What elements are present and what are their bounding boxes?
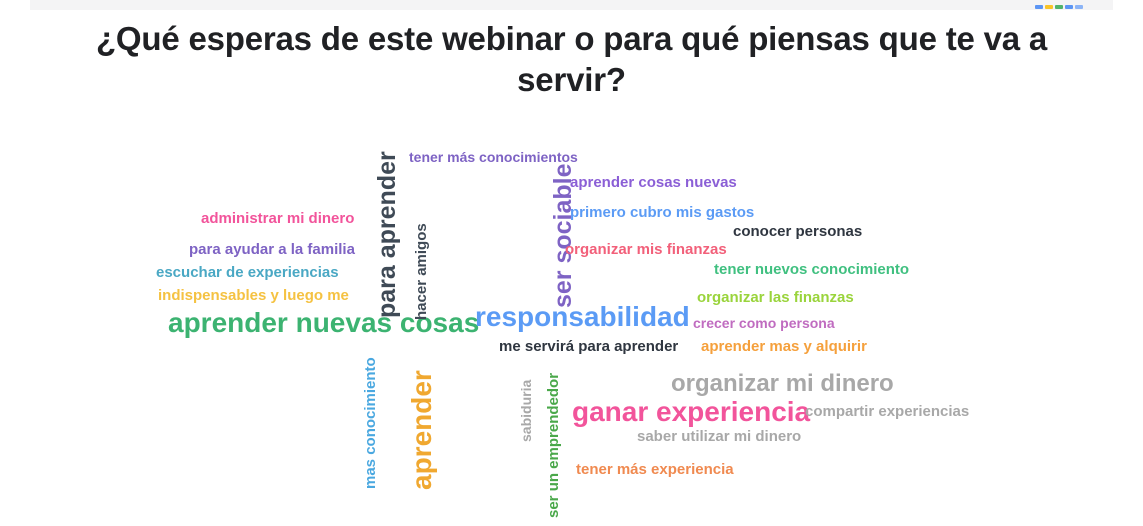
cloud-word: escuchar de experiencias bbox=[156, 265, 339, 280]
cloud-word: ganar experiencia bbox=[572, 398, 810, 426]
cloud-word: mas conocimiento bbox=[363, 357, 378, 489]
cloud-word: ser un emprendedor bbox=[546, 373, 561, 518]
cloud-word: compartir experiencias bbox=[805, 404, 969, 419]
cloud-word: aprender cosas nuevas bbox=[570, 175, 737, 190]
cloud-word: hacer amigos bbox=[414, 223, 429, 320]
cloud-word: organizar las finanzas bbox=[697, 290, 854, 305]
cloud-word: aprender mas y alquirir bbox=[701, 339, 867, 354]
cloud-word: para ayudar a la familia bbox=[189, 242, 355, 257]
cloud-word: aprender bbox=[408, 370, 436, 490]
word-cloud: administrar mi dineropara ayudar a la fa… bbox=[0, 0, 1143, 526]
cloud-word: organizar mi dinero bbox=[671, 372, 894, 396]
cloud-word: saber utilizar mi dinero bbox=[637, 429, 801, 444]
cloud-word: para aprender bbox=[375, 151, 400, 318]
cloud-word: tener más experiencia bbox=[576, 462, 734, 477]
cloud-word: indispensables y luego me bbox=[158, 288, 349, 303]
cloud-word: aprender nuevas cosas bbox=[168, 309, 479, 337]
cloud-word: responsabilidad bbox=[475, 303, 690, 331]
cloud-word: tener más conocimientos bbox=[409, 150, 578, 164]
cloud-word: primero cubro mis gastos bbox=[570, 205, 754, 220]
cloud-word: tener nuevos conocimiento bbox=[714, 262, 909, 277]
cloud-word: crecer como persona bbox=[693, 316, 835, 330]
slide-canvas: ¿Qué esperas de este webinar o para qué … bbox=[0, 0, 1143, 526]
cloud-word: organizar mis finanzas bbox=[565, 242, 727, 257]
cloud-word: administrar mi dinero bbox=[201, 211, 354, 226]
cloud-word: me servirá para aprender bbox=[499, 339, 678, 354]
cloud-word: conocer personas bbox=[733, 224, 862, 239]
cloud-word: sabiduria bbox=[519, 380, 533, 442]
